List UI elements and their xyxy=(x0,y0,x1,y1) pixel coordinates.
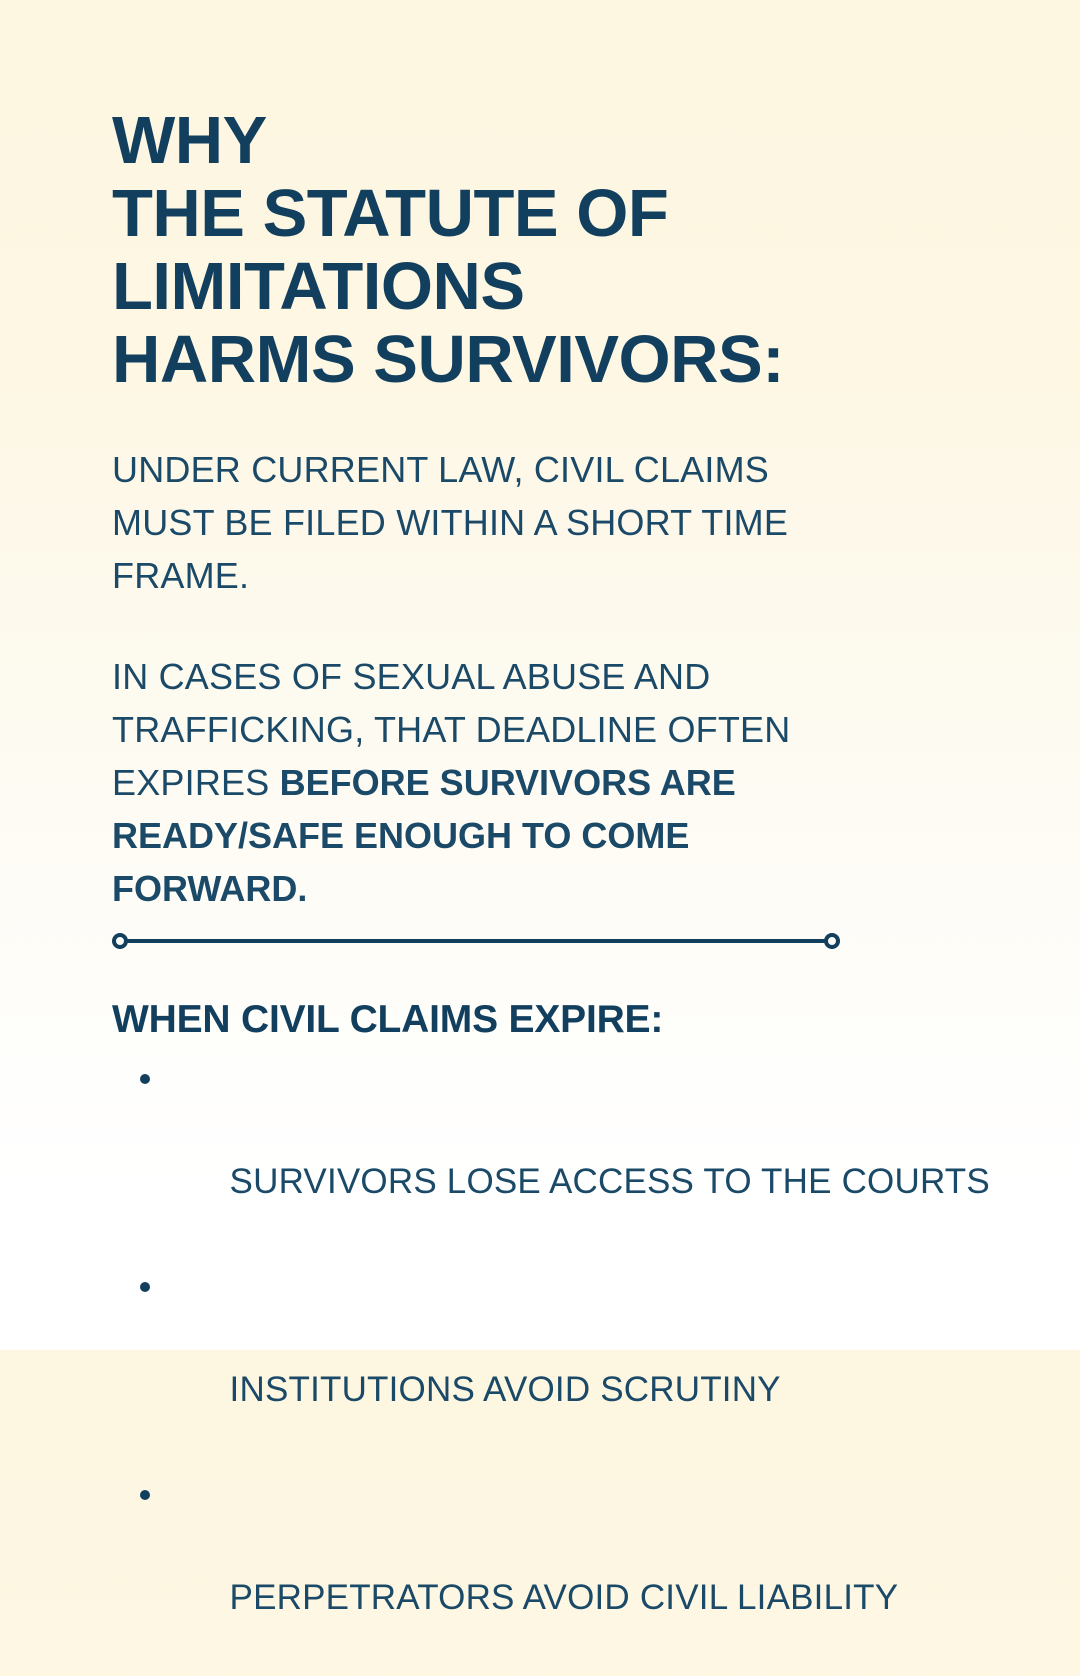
paragraph-one-line-2: MUST BE FILED WITHIN A SHORT TIME xyxy=(112,496,882,549)
paragraph-two-line-2: TRAFFICKING, THAT DEADLINE OFTEN xyxy=(112,703,882,756)
headline-line-4: HARMS SURVIVORS: xyxy=(112,323,972,396)
headline-line-2: THE STATUTE OF xyxy=(112,177,972,250)
list-item-label: PERPETRATORS AVOID CIVIL LIABILITY xyxy=(230,1578,899,1617)
section-subtitle: WHEN CIVIL CLAIMS EXPIRE: xyxy=(112,997,663,1043)
paragraph-one-line-1: UNDER CURRENT LAW, CIVIL CLAIMS xyxy=(112,443,882,496)
poster-canvas: WHY THE STATUTE OF LIMITATIONS HARMS SUR… xyxy=(0,0,1080,1350)
paragraph-two-emphasis-run-1: BEFORE SURVIVORS ARE xyxy=(280,762,736,803)
list-item-label: SURVIVORS LOSE ACCESS TO THE COURTS xyxy=(230,1162,990,1201)
page-title: WHY THE STATUTE OF LIMITATIONS HARMS SUR… xyxy=(112,104,972,396)
paragraph-two-regular-run: EXPIRES xyxy=(112,762,280,803)
bullet-dot-icon xyxy=(140,1490,150,1500)
list-item-label: INSTITUTIONS AVOID SCRUTINY xyxy=(230,1370,781,1409)
list-item: PERPETRATORS AVOID CIVIL LIABILITY xyxy=(134,1468,1014,1676)
list-item: SURVIVORS LOSE ACCESS TO THE COURTS xyxy=(134,1052,1014,1260)
paragraph-two-line-1: IN CASES OF SEXUAL ABUSE AND xyxy=(112,650,882,703)
body-paragraph-two: IN CASES OF SEXUAL ABUSE AND TRAFFICKING… xyxy=(112,650,882,915)
headline-line-3: LIMITATIONS xyxy=(112,250,972,323)
headline-line-1: WHY xyxy=(112,104,972,177)
bullet-dot-icon xyxy=(140,1074,150,1084)
divider-right-circle-icon xyxy=(824,933,840,949)
divider-rule xyxy=(124,939,828,943)
paragraph-two-emphasis-run-2: READY/SAFE ENOUGH TO COME xyxy=(112,809,882,862)
paragraph-one-line-3: FRAME. xyxy=(112,549,882,602)
bullet-dot-icon xyxy=(140,1282,150,1292)
paragraph-two-emphasis-run-3: FORWARD. xyxy=(112,862,882,915)
list-item: INSTITUTIONS AVOID SCRUTINY xyxy=(134,1260,1014,1468)
paragraph-two-line-3: EXPIRES BEFORE SURVIVORS ARE xyxy=(112,756,882,809)
section-divider xyxy=(112,931,840,951)
body-paragraph-one: UNDER CURRENT LAW, CIVIL CLAIMS MUST BE … xyxy=(112,443,882,602)
consequences-list: SURVIVORS LOSE ACCESS TO THE COURTS INST… xyxy=(134,1052,1014,1676)
